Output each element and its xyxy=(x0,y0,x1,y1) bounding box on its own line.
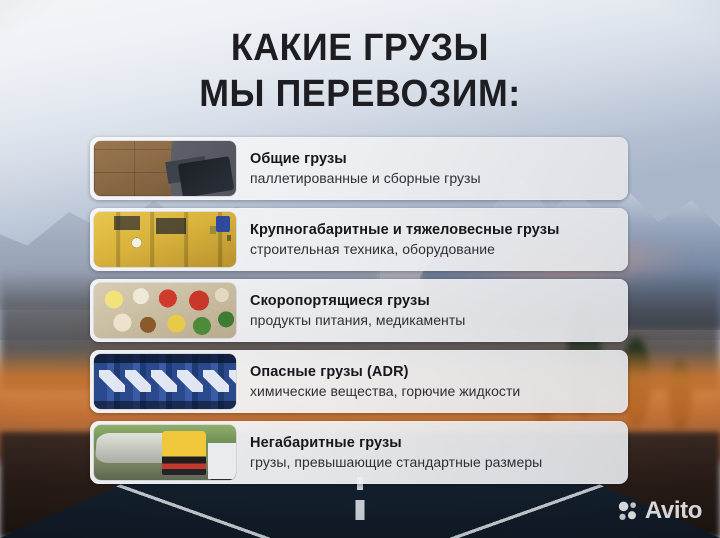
page-title-line2: МЫ ПЕРЕВОЗИМ: xyxy=(22,74,699,114)
cargo-thumbnail-food-icon xyxy=(94,283,236,338)
cargo-thumbnail-general-goods-icon xyxy=(94,141,236,196)
avito-brand-text: Avito xyxy=(645,500,702,522)
cargo-card-text: Опасные грузы (ADR) химические вещества,… xyxy=(250,364,520,400)
cargo-title: Скоропортящиеся грузы xyxy=(250,293,465,310)
cargo-title: Общие грузы xyxy=(250,151,481,168)
cargo-card-perishable[interactable]: Скоропортящиеся грузы продукты питания, … xyxy=(90,279,628,342)
cargo-subtitle: строительная техника, оборудование xyxy=(250,240,559,258)
cargo-list: Общие грузы паллетированные и сборные гр… xyxy=(90,137,628,484)
cargo-title: Крупногабаритные и тяжеловесные грузы xyxy=(250,222,559,239)
avito-dots-logo-icon xyxy=(617,500,639,522)
cargo-subtitle: химические вещества, горючие жидкости xyxy=(250,382,520,400)
cargo-card-dangerous-adr[interactable]: Опасные грузы (ADR) химические вещества,… xyxy=(90,350,628,413)
center-dash-near xyxy=(356,500,365,520)
cargo-title: Опасные грузы (ADR) xyxy=(250,364,520,381)
cargo-thumbnail-oversize-truck-icon xyxy=(94,425,236,480)
cargo-thumbnail-chemical-drums-icon xyxy=(94,354,236,409)
cargo-card-oversized-heavy[interactable]: Крупногабаритные и тяжеловесные грузы ст… xyxy=(90,208,628,271)
cargo-subtitle: грузы, превышающие стандартные размеры xyxy=(250,453,542,471)
cargo-subtitle: продукты питания, медикаменты xyxy=(250,311,465,329)
poster-canvas: КАКИЕ ГРУЗЫ МЫ ПЕРЕВОЗИМ: Общие грузы па… xyxy=(0,0,720,538)
page-title: КАКИЕ ГРУЗЫ МЫ ПЕРЕВОЗИМ: xyxy=(22,28,699,114)
avito-watermark: Avito xyxy=(617,500,702,522)
cargo-card-general[interactable]: Общие грузы паллетированные и сборные гр… xyxy=(90,137,628,200)
cargo-card-text: Негабаритные грузы грузы, превышающие ст… xyxy=(250,435,542,471)
cargo-title: Негабаритные грузы xyxy=(250,435,542,452)
page-title-line1: КАКИЕ ГРУЗЫ xyxy=(231,27,489,69)
cargo-card-text: Общие грузы паллетированные и сборные гр… xyxy=(250,151,481,187)
cargo-card-outsize[interactable]: Негабаритные грузы грузы, превышающие ст… xyxy=(90,421,628,484)
cargo-thumbnail-machinery-icon xyxy=(94,212,236,267)
cargo-card-text: Крупногабаритные и тяжеловесные грузы ст… xyxy=(250,222,559,258)
cargo-card-text: Скоропортящиеся грузы продукты питания, … xyxy=(250,293,465,329)
cargo-subtitle: паллетированные и сборные грузы xyxy=(250,169,481,187)
